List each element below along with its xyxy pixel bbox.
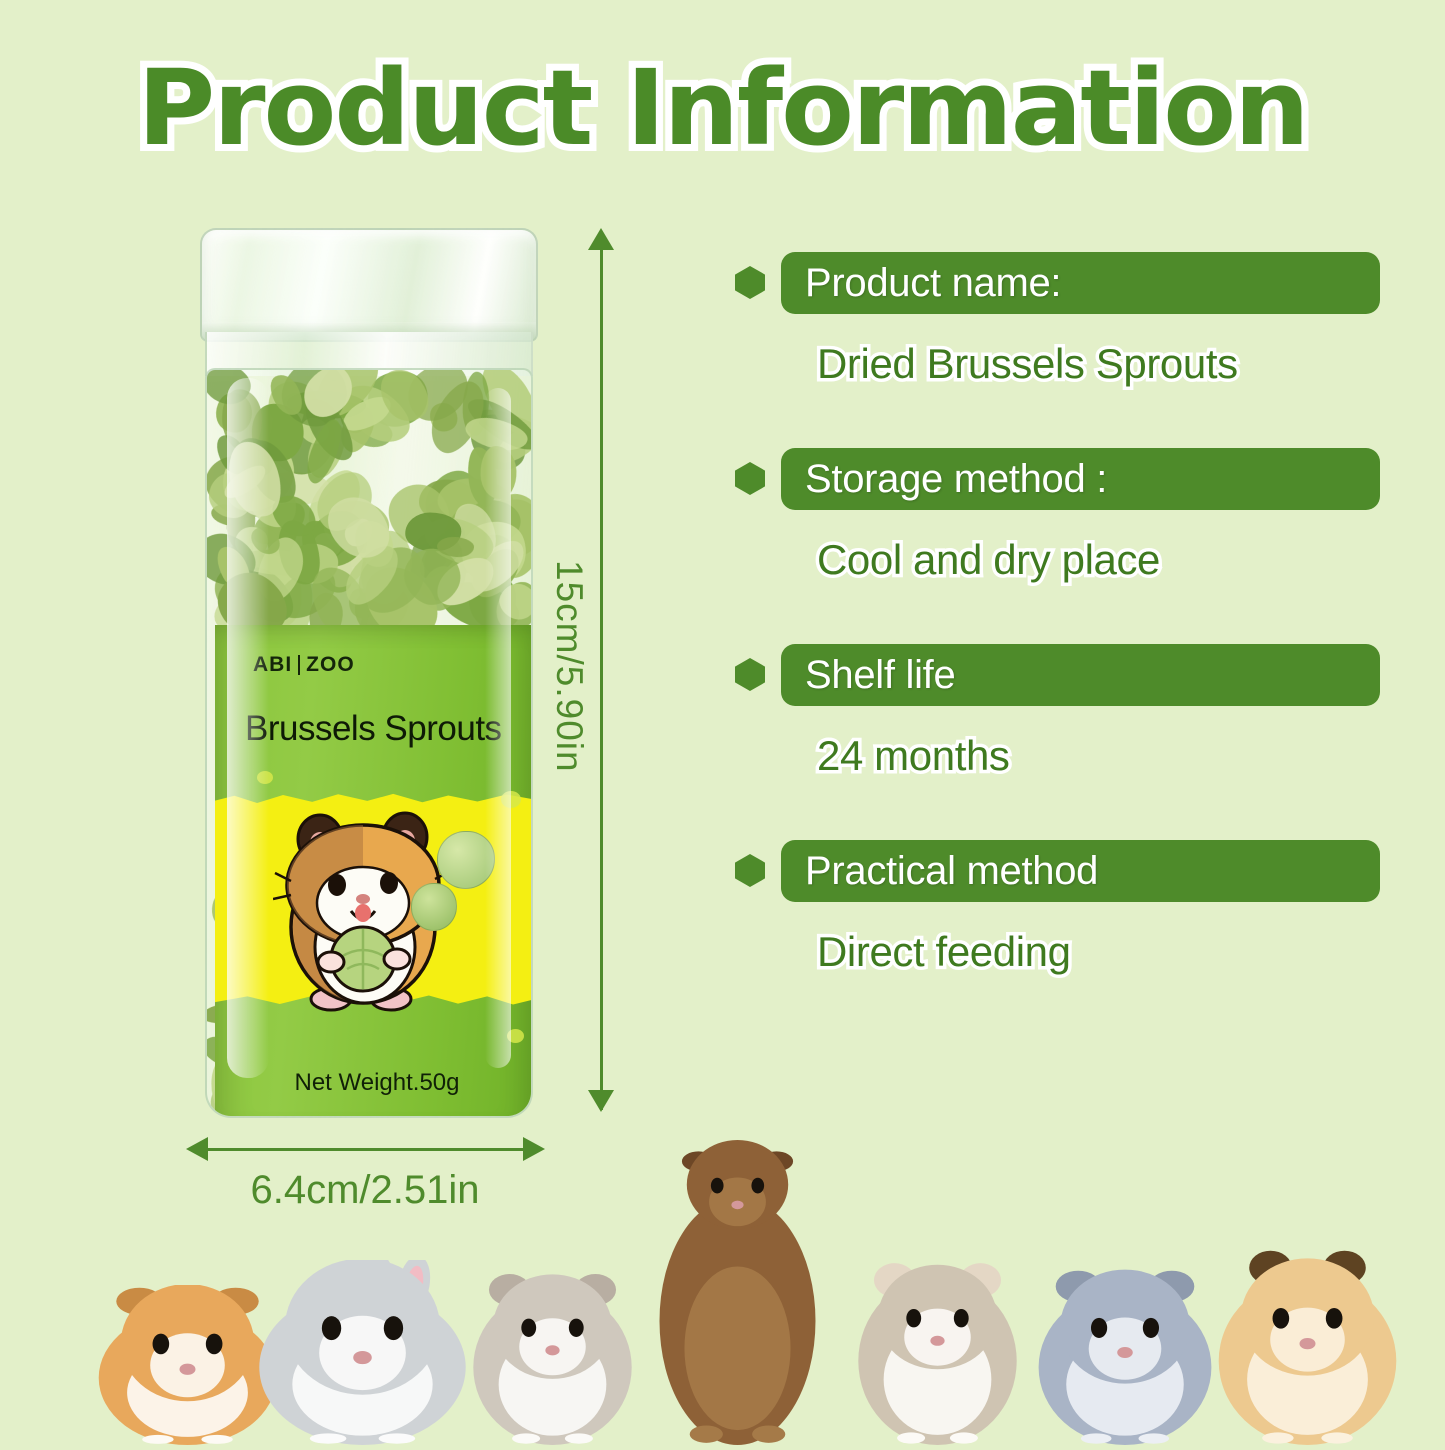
jar-lid — [200, 228, 538, 342]
animal-dwarf-hamster — [470, 1260, 635, 1445]
jar-label: ABI ZOO Brussels Sprouts — [215, 625, 533, 1118]
info-value-text: Cool and dry place — [817, 536, 1380, 584]
info-label-text: Product name: — [805, 261, 1061, 306]
pet-animal-row — [0, 1115, 1445, 1445]
info-label-text: Shelf life — [805, 653, 955, 698]
label-dot-2 — [501, 791, 521, 808]
arrow-down-icon — [588, 1090, 614, 1112]
info-row-shelf-life: Shelf life 24 months — [735, 644, 1380, 780]
info-row-product-name: Product name: Dried Brussels Sprouts — [735, 252, 1380, 388]
info-label-text: Storage method : — [805, 457, 1107, 502]
brand-logo: ABI ZOO — [253, 653, 355, 677]
label-product-name: Brussels Sprouts — [245, 709, 515, 749]
infographic-canvas: Product Information ABI ZOO Brussels Spr… — [0, 0, 1445, 1445]
info-value-text: 24 months — [817, 732, 1380, 780]
animal-guinea-pig — [95, 1285, 280, 1445]
brand-right-text: ZOO — [306, 653, 355, 677]
brand-left-text: ABI — [253, 653, 292, 677]
info-row-practical-method: Practical method Direct feeding — [735, 840, 1380, 976]
jar-body: ABI ZOO Brussels Sprouts — [205, 368, 533, 1118]
animal-syrian-hamster — [1215, 1245, 1400, 1445]
label-net-weight: Net Weight.50g — [215, 1069, 533, 1097]
sprout-decoration-1 — [437, 831, 495, 889]
animal-prairie-dog — [640, 1135, 835, 1445]
page-title-container: Product Information — [0, 56, 1445, 160]
info-label-text: Practical method — [805, 849, 1098, 894]
label-dot-3 — [507, 1029, 524, 1043]
product-jar: ABI ZOO Brussels Sprouts — [197, 228, 537, 1114]
sprout-decoration-2 — [411, 883, 457, 931]
info-label-pill: Shelf life — [781, 644, 1380, 706]
info-label-pill: Practical method — [781, 840, 1380, 902]
animal-gerbil — [855, 1245, 1020, 1445]
hexagon-bullet-icon — [735, 266, 765, 299]
label-dot-1 — [257, 771, 273, 784]
animal-rabbit — [255, 1260, 470, 1445]
info-value-text: Direct feeding — [817, 928, 1380, 976]
page-title: Product Information — [137, 56, 1307, 160]
brand-divider — [298, 655, 300, 675]
product-info-list: Product name: Dried Brussels Sprouts Sto… — [735, 252, 1380, 976]
info-label-pill: Product name: — [781, 252, 1380, 314]
hexagon-bullet-icon — [735, 854, 765, 887]
hexagon-bullet-icon — [735, 462, 765, 495]
animal-chinchilla — [1035, 1260, 1215, 1445]
info-value-text: Dried Brussels Sprouts — [817, 340, 1380, 388]
height-dimension-line — [600, 236, 603, 1110]
hexagon-bullet-icon — [735, 658, 765, 691]
info-label-pill: Storage method : — [781, 448, 1380, 510]
info-row-storage-method: Storage method : Cool and dry place — [735, 448, 1380, 584]
height-dimension-label: 15cm/5.90in — [548, 560, 590, 773]
